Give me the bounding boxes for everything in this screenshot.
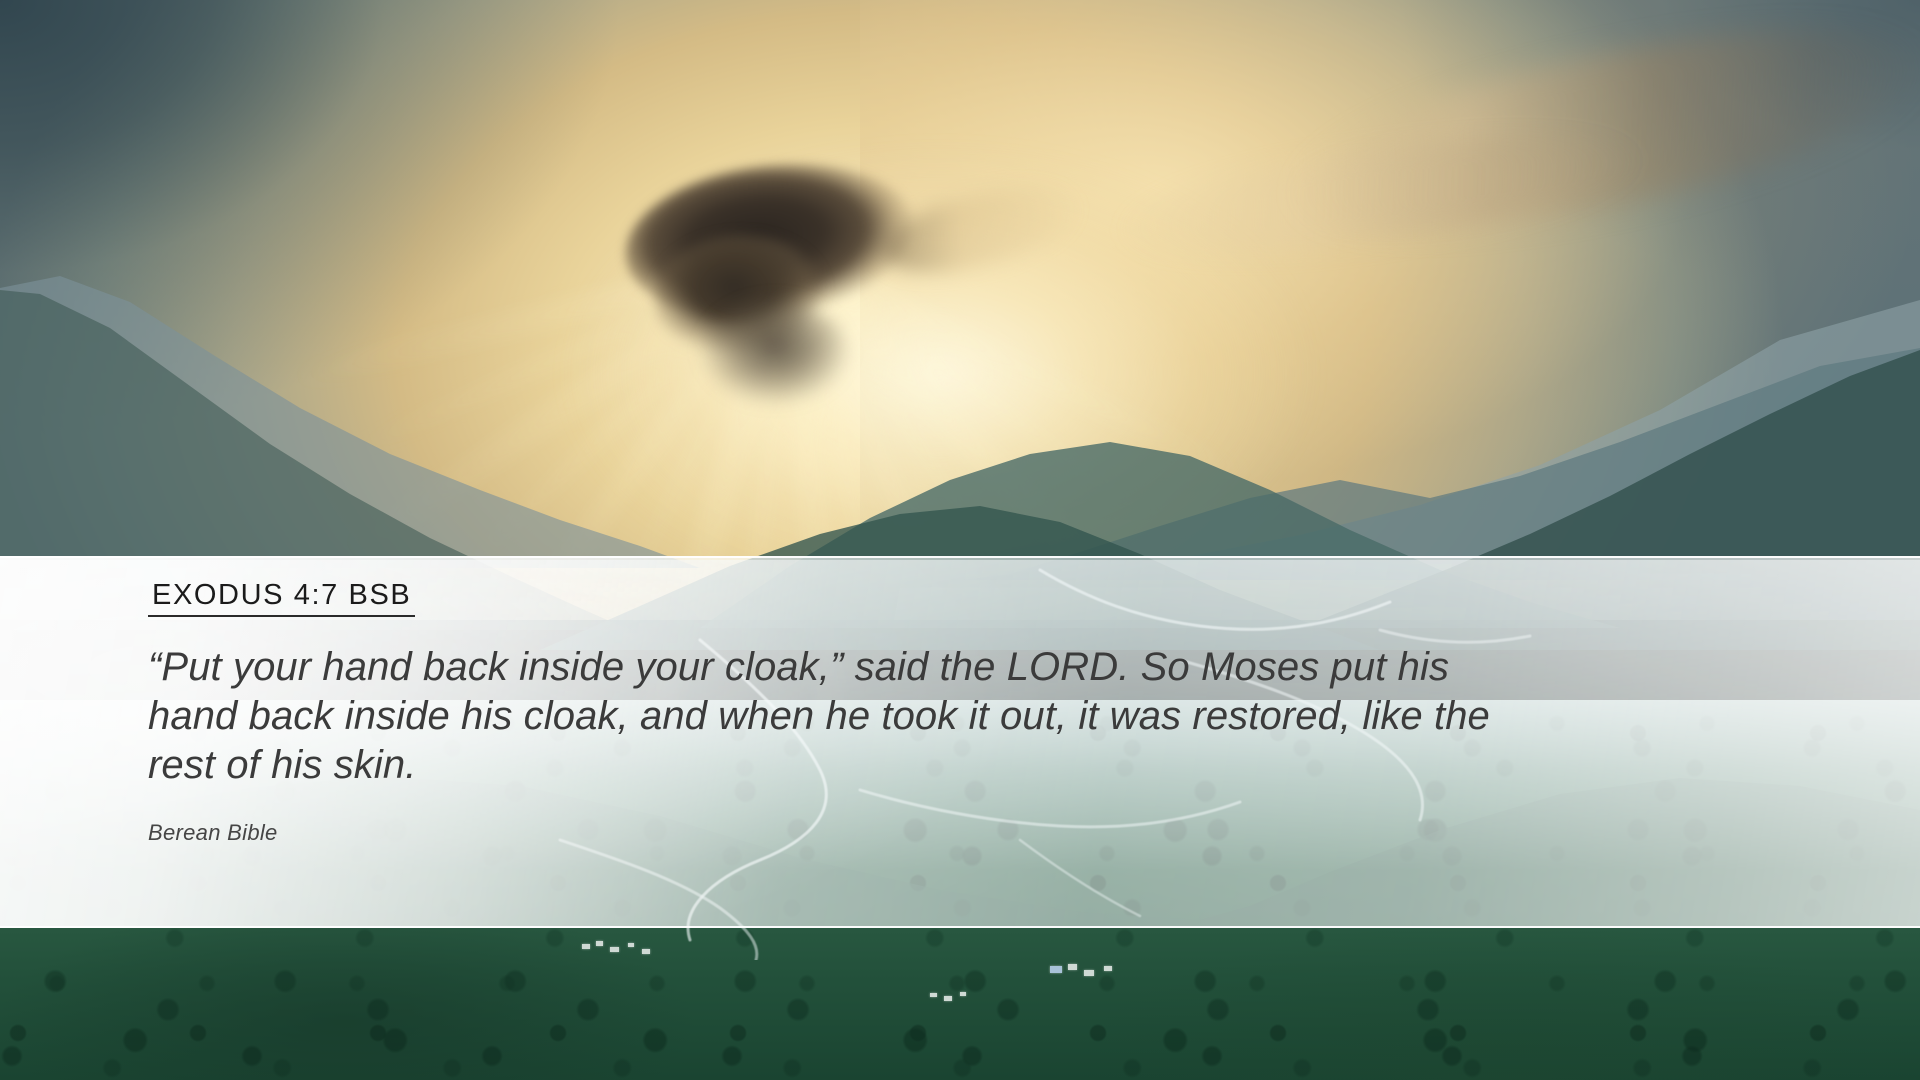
- verse-image-canvas: Exodus 4:7 BSB “Put your hand back insid…: [0, 0, 1920, 1080]
- verse-reference: Exodus 4:7 BSB: [148, 580, 415, 617]
- verse-source-attribution: Berean Bible: [148, 820, 1830, 846]
- verse-content: Exodus 4:7 BSB “Put your hand back insid…: [148, 580, 1830, 846]
- verse-body-text: “Put your hand back inside your cloak,” …: [148, 643, 1493, 790]
- village-cluster-center: [930, 990, 990, 1006]
- village-cluster-right: [1050, 962, 1130, 982]
- verse-overlay-panel: Exodus 4:7 BSB “Put your hand back insid…: [0, 556, 1920, 928]
- village-cluster-left: [580, 938, 670, 960]
